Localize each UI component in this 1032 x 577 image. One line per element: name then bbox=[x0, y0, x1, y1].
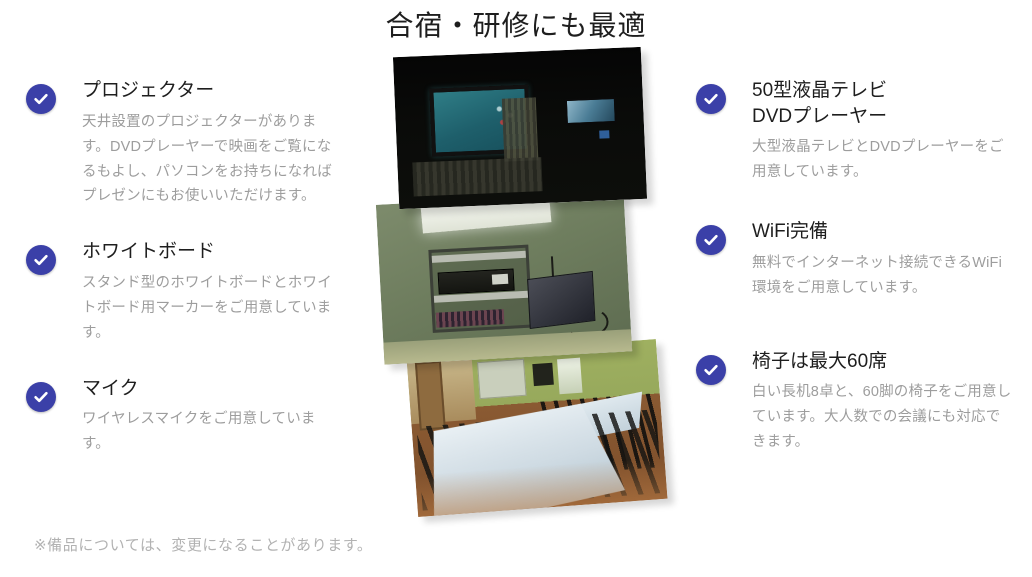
door bbox=[414, 361, 445, 431]
disc-shelf bbox=[436, 309, 505, 328]
photo-projector-room bbox=[393, 47, 647, 209]
feature-body: 天井設置のプロジェクターがあります。DVDプレーヤーで映画をご覧になるもよし、パ… bbox=[82, 110, 342, 210]
feature-body: ワイヤレスマイクをご用意しています。 bbox=[82, 407, 342, 457]
feature-item-tv-dvd: 50型液晶テレビ DVDプレーヤー 大型液晶テレビとDVDプレーヤーをご用意して… bbox=[692, 78, 1012, 185]
equipment-rack bbox=[428, 245, 533, 333]
feature-item-whiteboard: ホワイトボード スタンド型のホワイトボードとホワイトボード用マーカーをご用意して… bbox=[22, 239, 342, 345]
feature-item-wifi: WiFi完備 無料でインターネット接続できるWiFi環境をご用意しています。 bbox=[692, 219, 1012, 301]
photo-av-equipment-image bbox=[376, 191, 632, 364]
curtain bbox=[501, 97, 538, 162]
feature-body: 白い長机8卓と、60脚の椅子をご用意しています。大人数での会議にも対応できます。 bbox=[752, 380, 1012, 455]
wall-panel bbox=[412, 158, 542, 197]
wall-panel bbox=[477, 358, 527, 399]
check-circle-icon bbox=[26, 245, 56, 275]
photo-meeting-room bbox=[406, 339, 667, 517]
footnote: ※備品については、変更になることがあります。 bbox=[34, 534, 373, 555]
feature-title: 椅子は最大60席 bbox=[752, 349, 1012, 375]
feature-body: スタンド型のホワイトボードとホワイトボード用マーカーをご用意しています。 bbox=[82, 271, 342, 346]
check-circle-icon bbox=[26, 382, 56, 412]
feature-title: ホワイトボード bbox=[82, 239, 342, 265]
feature-title: WiFi完備 bbox=[752, 219, 1012, 245]
av-amplifier bbox=[438, 268, 515, 294]
check-circle-icon bbox=[696, 225, 726, 255]
feature-title: プロジェクター bbox=[82, 78, 342, 104]
feature-item-seating: 椅子は最大60席 白い長机8卓と、60脚の椅子をご用意しています。大人数での会議… bbox=[692, 349, 1012, 455]
left-feature-column: プロジェクター 天井設置のプロジェクターがあります。DVDプレーヤーで映画をご覧… bbox=[22, 78, 342, 457]
page-title: 合宿・研修にも最適 bbox=[0, 6, 1032, 45]
wall-control-panel bbox=[600, 130, 610, 138]
wall-tv bbox=[532, 363, 554, 387]
feature-title: マイク bbox=[82, 376, 342, 402]
photo-projector-room-image bbox=[393, 47, 647, 209]
wall-tv bbox=[564, 97, 616, 126]
photo-meeting-room-image bbox=[406, 339, 667, 517]
right-feature-column: 50型液晶テレビ DVDプレーヤー 大型液晶テレビとDVDプレーヤーをご用意して… bbox=[692, 78, 1012, 455]
check-circle-icon bbox=[696, 84, 726, 114]
feature-title: 50型液晶テレビ DVDプレーヤー bbox=[752, 78, 1012, 129]
check-circle-icon bbox=[696, 355, 726, 385]
photo-av-equipment bbox=[376, 191, 632, 364]
rack-shelf bbox=[431, 251, 525, 263]
feature-item-projector: プロジェクター 天井設置のプロジェクターがあります。DVDプレーヤーで映画をご覧… bbox=[22, 78, 342, 209]
check-circle-icon bbox=[26, 84, 56, 114]
feature-body: 無料でインターネット接続できるWiFi環境をご用意しています。 bbox=[752, 251, 1012, 301]
feature-body: 大型液晶テレビとDVDプレーヤーをご用意しています。 bbox=[752, 135, 1012, 185]
photo-collage bbox=[372, 52, 664, 514]
feature-item-microphone: マイク ワイヤレスマイクをご用意しています。 bbox=[22, 376, 342, 458]
window bbox=[557, 357, 582, 394]
